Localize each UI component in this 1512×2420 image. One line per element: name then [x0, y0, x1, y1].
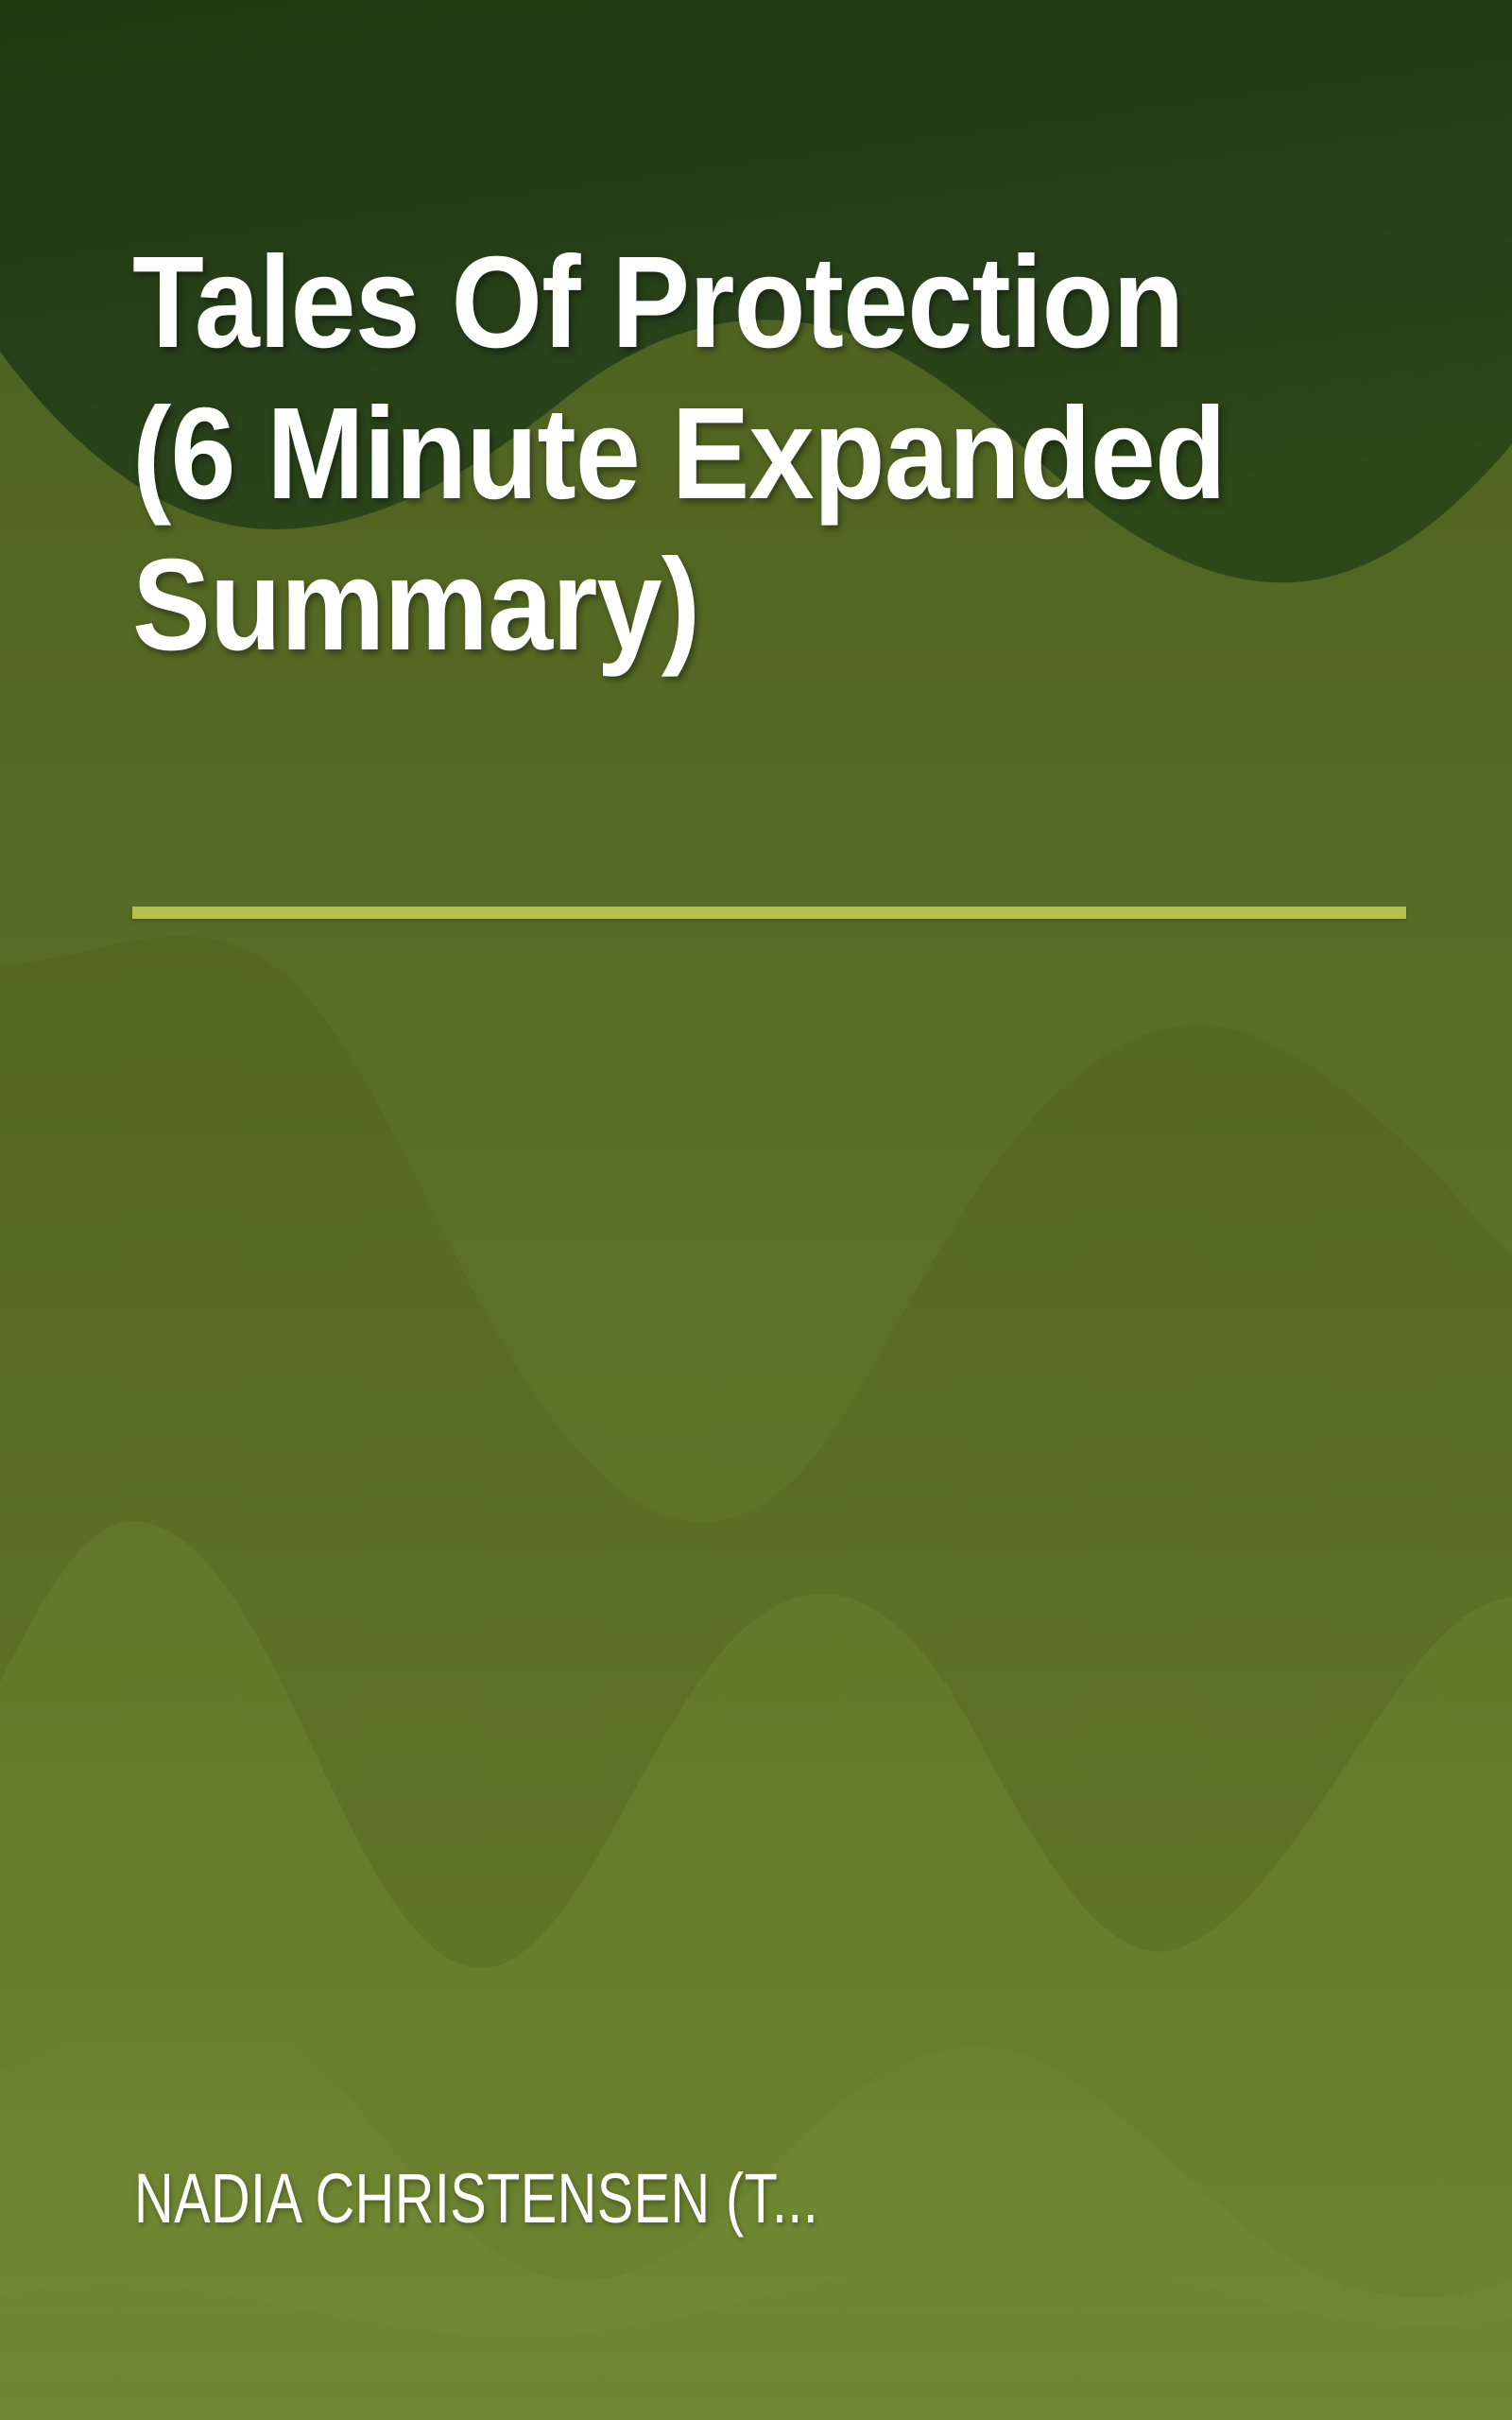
book-cover: Tales Of Protection (6 Minute Expanded S… [0, 0, 1512, 2420]
title-underline-rule [132, 907, 1406, 919]
cover-content: Tales Of Protection (6 Minute Expanded S… [0, 0, 1512, 2420]
title-block: Tales Of Protection (6 Minute Expanded S… [132, 227, 1417, 681]
book-author: NADIA CHRISTENSEN (T... [134, 2160, 1151, 2237]
book-title: Tales Of Protection (6 Minute Expanded S… [132, 227, 1289, 681]
author-block: NADIA CHRISTENSEN (T... [134, 2160, 1438, 2237]
